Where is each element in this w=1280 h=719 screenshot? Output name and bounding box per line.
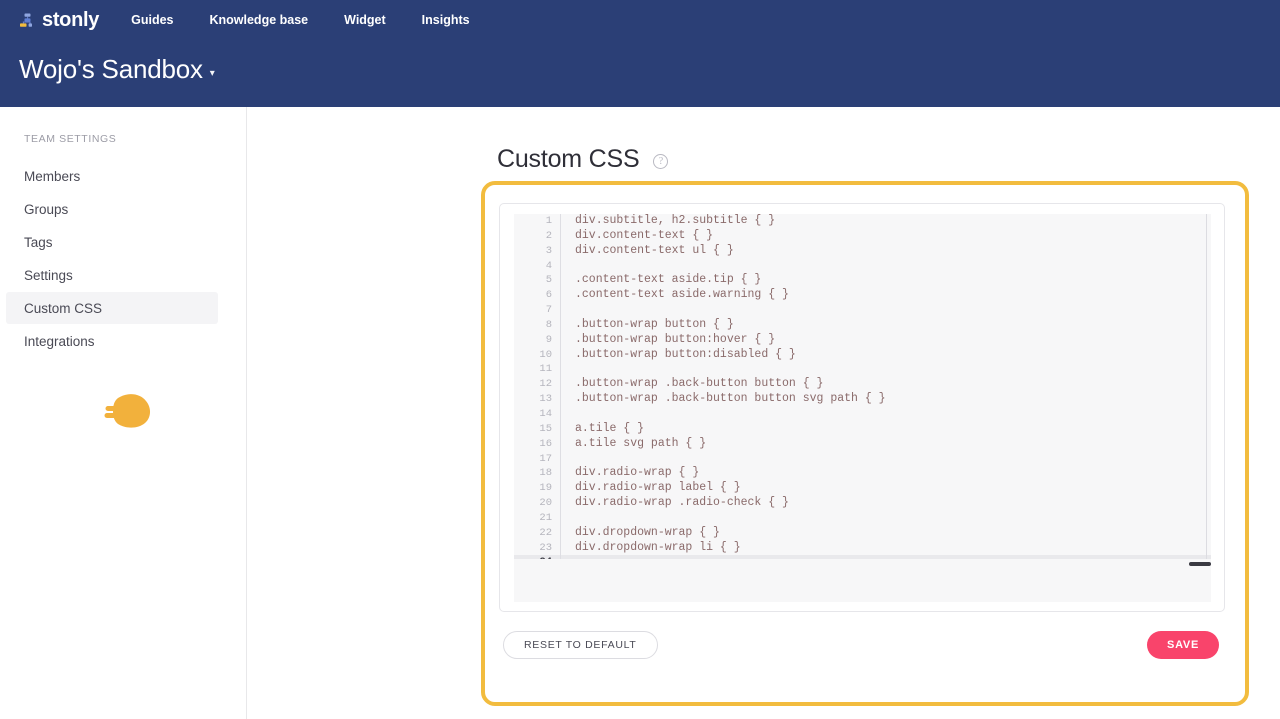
line-number: 15 — [514, 422, 560, 437]
code-text: div.radio-wrap label { } — [561, 481, 741, 496]
code-text: div.radio-wrap .radio-check { } — [561, 496, 789, 511]
nav-item-knowledge-base[interactable]: Knowledge base — [209, 13, 308, 27]
code-text: div.radio-wrap { } — [561, 466, 699, 481]
code-line[interactable]: 6.content-text aside.warning { } — [514, 288, 1211, 303]
workspace-title: Wojo's Sandbox — [19, 52, 203, 86]
sidebar-heading: TEAM SETTINGS — [24, 133, 116, 145]
code-text: a.tile svg path { } — [561, 437, 706, 452]
line-number: 22 — [514, 526, 560, 541]
code-line[interactable]: 10.button-wrap button:disabled { } — [514, 348, 1211, 363]
code-editor[interactable]: 1div.subtitle, h2.subtitle { }2div.conte… — [514, 214, 1211, 602]
sidebar-item-tags[interactable]: Tags — [0, 226, 247, 258]
line-number: 23 — [514, 541, 560, 556]
code-text: div.content-text ul { } — [561, 244, 734, 259]
brand-logo[interactable]: stonly — [18, 7, 99, 33]
line-number: 12 — [514, 377, 560, 392]
top-header-bar: stonly Guides Knowledge base Widget Insi… — [0, 0, 1280, 107]
gutter-divider — [560, 362, 561, 377]
code-line[interactable]: 5.content-text aside.tip { } — [514, 273, 1211, 288]
line-number: 21 — [514, 511, 560, 526]
code-line[interactable]: 13.button-wrap .back-button button svg p… — [514, 392, 1211, 407]
line-number: 17 — [514, 452, 560, 467]
save-button[interactable]: SAVE — [1147, 631, 1219, 659]
line-number: 8 — [514, 318, 560, 333]
editor-right-divider — [1206, 214, 1207, 559]
line-number: 9 — [514, 333, 560, 348]
code-line[interactable]: 2div.content-text { } — [514, 229, 1211, 244]
line-number: 24 — [514, 555, 560, 559]
sidebar-item-label: Custom CSS — [24, 301, 102, 316]
code-text: .button-wrap button:disabled { } — [561, 348, 796, 363]
sidebar-item-label: Groups — [24, 202, 68, 217]
code-line[interactable]: 21 — [514, 511, 1211, 526]
custom-css-card: 1div.subtitle, h2.subtitle { }2div.conte… — [481, 181, 1249, 706]
code-line[interactable]: 12.button-wrap .back-button button { } — [514, 377, 1211, 392]
sidebar-item-groups[interactable]: Groups — [0, 193, 247, 225]
gutter-divider — [560, 303, 561, 318]
line-number: 10 — [514, 348, 560, 363]
pointing-hand-icon — [104, 390, 158, 434]
reset-to-default-button[interactable]: RESET TO DEFAULT — [503, 631, 658, 659]
code-lines[interactable]: 1div.subtitle, h2.subtitle { }2div.conte… — [514, 214, 1211, 559]
code-text: .button-wrap button:hover { } — [561, 333, 775, 348]
line-number: 5 — [514, 273, 560, 288]
brand-name: stonly — [42, 10, 99, 30]
code-line[interactable]: 17 — [514, 452, 1211, 467]
code-text: .button-wrap .back-button button { } — [561, 377, 823, 392]
line-number: 18 — [514, 466, 560, 481]
sidebar-menu: Members Groups Tags Settings Custom CSS … — [0, 160, 247, 358]
gutter-divider — [560, 259, 561, 274]
line-number: 13 — [514, 392, 560, 407]
code-text: .content-text aside.tip { } — [561, 273, 761, 288]
nav-links: Guides Knowledge base Widget Insights — [131, 13, 469, 27]
nav-item-insights[interactable]: Insights — [422, 13, 470, 27]
line-number: 1 — [514, 214, 560, 229]
sidebar-item-integrations[interactable]: Integrations — [0, 325, 247, 357]
line-number: 16 — [514, 437, 560, 452]
line-number: 4 — [514, 259, 560, 274]
code-line[interactable]: 11 — [514, 362, 1211, 377]
code-line[interactable]: 24 — [514, 555, 1211, 559]
sidebar-item-settings[interactable]: Settings — [0, 259, 247, 291]
line-number: 19 — [514, 481, 560, 496]
code-line[interactable]: 14 — [514, 407, 1211, 422]
sidebar-item-label: Tags — [24, 235, 53, 250]
card-footer: RESET TO DEFAULT SAVE — [485, 629, 1245, 679]
page-title-row: Custom CSS ? — [497, 145, 668, 174]
code-line[interactable]: 23div.dropdown-wrap li { } — [514, 541, 1211, 556]
line-number: 3 — [514, 244, 560, 259]
stonly-logo-icon — [18, 12, 37, 31]
code-line[interactable]: 8.button-wrap button { } — [514, 318, 1211, 333]
code-text: .content-text aside.warning { } — [561, 288, 789, 303]
code-line[interactable]: 3div.content-text ul { } — [514, 244, 1211, 259]
code-line[interactable]: 16a.tile svg path { } — [514, 437, 1211, 452]
code-line[interactable]: 18div.radio-wrap { } — [514, 466, 1211, 481]
workspace-switcher[interactable]: Wojo's Sandbox ▾ — [0, 52, 215, 86]
code-line[interactable]: 9.button-wrap button:hover { } — [514, 333, 1211, 348]
code-text: div.subtitle, h2.subtitle { } — [561, 214, 775, 229]
code-line[interactable]: 4 — [514, 259, 1211, 274]
gutter-divider — [560, 511, 561, 526]
line-number: 11 — [514, 362, 560, 377]
line-number: 14 — [514, 407, 560, 422]
code-text: div.dropdown-wrap { } — [561, 526, 720, 541]
sidebar: TEAM SETTINGS Members Groups Tags Settin… — [0, 107, 247, 719]
nav-item-widget[interactable]: Widget — [344, 13, 386, 27]
code-line[interactable]: 20div.radio-wrap .radio-check { } — [514, 496, 1211, 511]
line-number: 2 — [514, 229, 560, 244]
editor-container: 1div.subtitle, h2.subtitle { }2div.conte… — [499, 203, 1225, 612]
help-circle-icon[interactable]: ? — [653, 154, 668, 169]
code-text: .button-wrap .back-button button svg pat… — [561, 392, 886, 407]
code-text: a.tile { } — [561, 422, 644, 437]
sidebar-item-label: Integrations — [24, 334, 95, 349]
sidebar-item-label: Settings — [24, 268, 73, 283]
line-number: 7 — [514, 303, 560, 318]
gutter-divider — [560, 407, 561, 422]
line-number: 20 — [514, 496, 560, 511]
page-title: Custom CSS — [497, 145, 639, 174]
sidebar-item-members[interactable]: Members — [0, 160, 247, 192]
sidebar-item-custom-css[interactable]: Custom CSS — [6, 292, 218, 324]
code-text: .button-wrap button { } — [561, 318, 734, 333]
main-content: Custom CSS ? 1div.subtitle, h2.subtitle … — [247, 107, 1280, 719]
code-line[interactable]: 22div.dropdown-wrap { } — [514, 526, 1211, 541]
line-number: 6 — [514, 288, 560, 303]
nav-item-guides[interactable]: Guides — [131, 13, 173, 27]
code-line[interactable]: 19div.radio-wrap label { } — [514, 481, 1211, 496]
code-text: div.content-text { } — [561, 229, 713, 244]
code-line[interactable]: 7 — [514, 303, 1211, 318]
sidebar-item-label: Members — [24, 169, 80, 184]
chevron-down-icon[interactable]: ▾ — [210, 68, 215, 79]
gutter-divider — [560, 555, 561, 559]
gutter-divider — [560, 452, 561, 467]
code-line[interactable]: 1div.subtitle, h2.subtitle { } — [514, 214, 1211, 229]
code-line[interactable]: 15a.tile { } — [514, 422, 1211, 437]
horizontal-scrollbar-thumb[interactable] — [1189, 562, 1211, 566]
primary-navigation: stonly Guides Knowledge base Widget Insi… — [0, 0, 1280, 40]
code-text: div.dropdown-wrap li { } — [561, 541, 741, 556]
